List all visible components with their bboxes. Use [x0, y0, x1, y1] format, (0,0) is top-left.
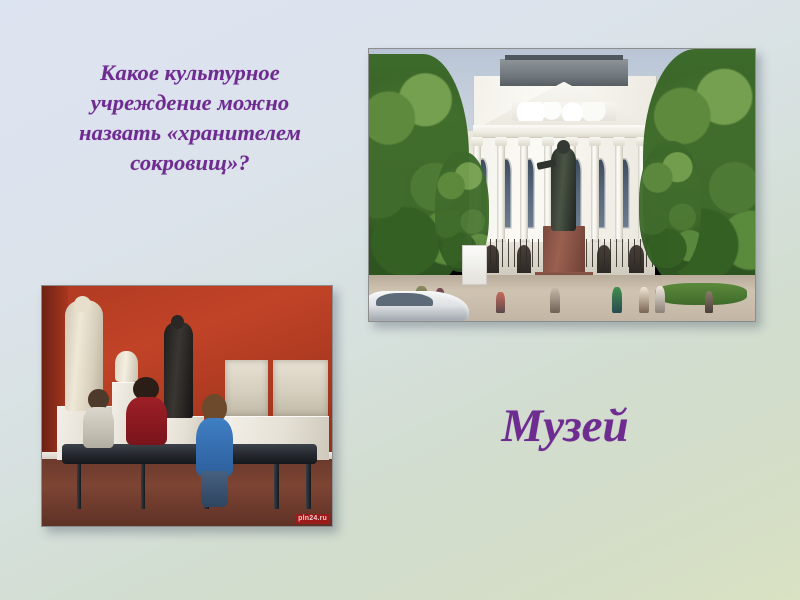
- bench-leg: [77, 464, 82, 510]
- pedestrian: [705, 291, 713, 313]
- child-legs: [201, 471, 228, 506]
- photo-museum-exterior: [368, 48, 756, 322]
- pedestrian: [639, 287, 649, 313]
- museum-interior-scene: pln24.ru: [42, 286, 332, 526]
- info-signboard: [462, 245, 487, 285]
- bench-leg: [274, 464, 279, 510]
- column: [497, 137, 505, 243]
- bench-leg: [306, 464, 311, 510]
- pediment-sculpture-relief: [512, 102, 616, 121]
- pushkin-statue-head: [557, 140, 570, 154]
- child-body: [83, 407, 115, 448]
- column: [520, 137, 528, 243]
- photo-museum-interior: pln24.ru: [41, 285, 333, 527]
- museum-exterior-scene: [369, 49, 755, 321]
- column: [591, 137, 599, 243]
- marble-relief-panel: [273, 360, 328, 415]
- pedestrian: [612, 287, 622, 313]
- bronze-statue: [164, 322, 193, 418]
- bench-leg: [141, 464, 146, 510]
- column: [615, 137, 623, 243]
- marble-statue-head: [74, 296, 91, 313]
- monument-pedestal: [543, 226, 585, 278]
- child-body: [196, 418, 234, 475]
- child-grey-jacket: [83, 389, 115, 468]
- child-body: [126, 397, 167, 444]
- gallery-floor: [42, 459, 332, 526]
- slide-canvas: Какое культурное учреждение можно назват…: [0, 0, 800, 600]
- palace-roof: [500, 59, 627, 86]
- child-red-jacket: [126, 377, 167, 468]
- white-car: [368, 291, 469, 321]
- pedestrian: [655, 286, 665, 313]
- child-blue-jacket: [196, 394, 234, 504]
- pedestrian: [496, 292, 504, 312]
- lawn: [655, 283, 748, 305]
- question-text: Какое культурное учреждение можно назват…: [22, 58, 358, 178]
- palace-entablature: [473, 125, 654, 138]
- answer-text: Музей: [400, 398, 730, 454]
- pedestrian: [550, 288, 559, 312]
- tree-mid-right: [639, 141, 701, 272]
- photo-watermark: pln24.ru: [295, 514, 330, 524]
